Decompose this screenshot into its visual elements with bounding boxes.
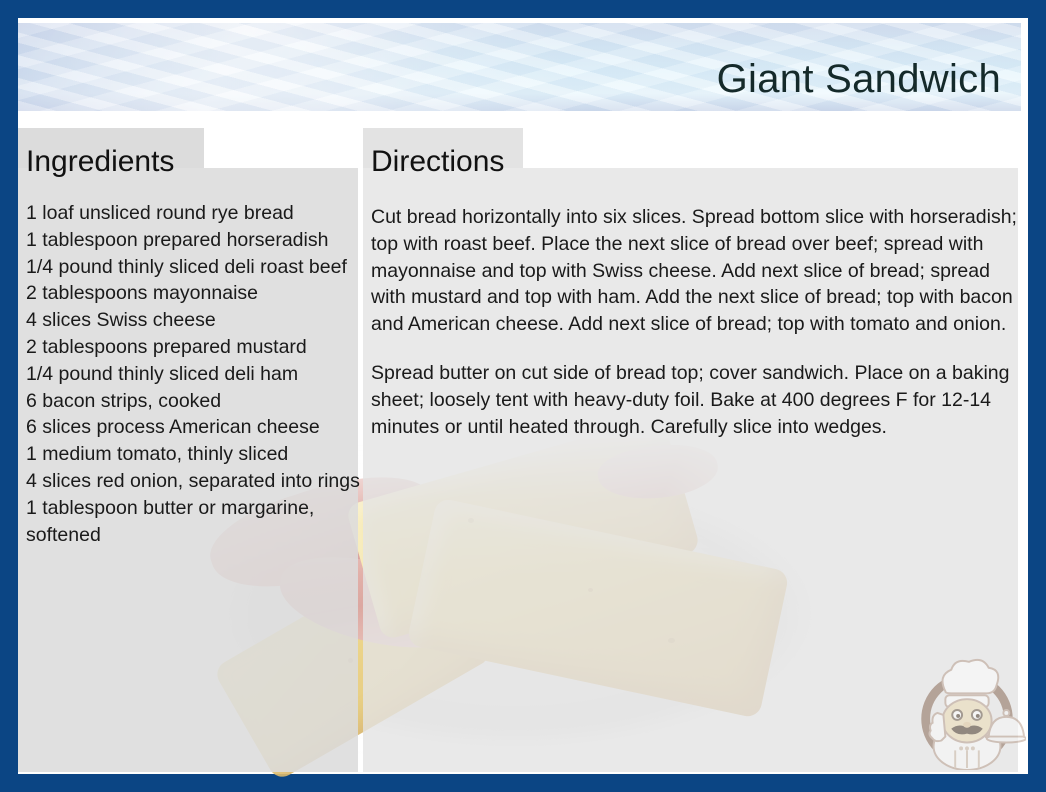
page-title: Giant Sandwich [717, 57, 1001, 102]
list-item: 1 loaf unsliced round rye bread [26, 200, 366, 227]
list-item: 6 bacon strips, cooked [26, 388, 366, 415]
list-item: 1 tablespoon butter or margarine, soften… [26, 495, 366, 549]
list-item: 1 medium tomato, thinly sliced [26, 441, 366, 468]
ingredients-heading: Ingredients [26, 145, 174, 179]
list-item: 1/4 pound thinly sliced deli ham [26, 361, 366, 388]
list-item: 1 tablespoon prepared horseradish [26, 227, 366, 254]
list-item: 2 tablespoons mayonnaise [26, 280, 366, 307]
directions-heading: Directions [371, 145, 504, 179]
list-item: 4 slices red onion, separated into rings [26, 468, 366, 495]
title-banner: Giant Sandwich [18, 23, 1021, 111]
list-item: 2 tablespoons prepared mustard [26, 334, 366, 361]
recipe-card: Giant Sandwich Ingredients 1 loaf unslic… [18, 18, 1028, 774]
chef-icon [908, 652, 1026, 770]
list-item: 6 slices process American cheese [26, 414, 366, 441]
directions-paragraph: Spread butter on cut side of bread top; … [371, 360, 1026, 440]
list-item: 1/4 pound thinly sliced deli roast beef [26, 254, 366, 281]
ingredients-list: 1 loaf unsliced round rye bread 1 tables… [26, 200, 366, 548]
directions-paragraph: Cut bread horizontally into six slices. … [371, 204, 1026, 338]
directions-body: Cut bread horizontally into six slices. … [371, 204, 1026, 462]
chef-mascot-logo [908, 652, 1026, 770]
list-item: 4 slices Swiss cheese [26, 307, 366, 334]
